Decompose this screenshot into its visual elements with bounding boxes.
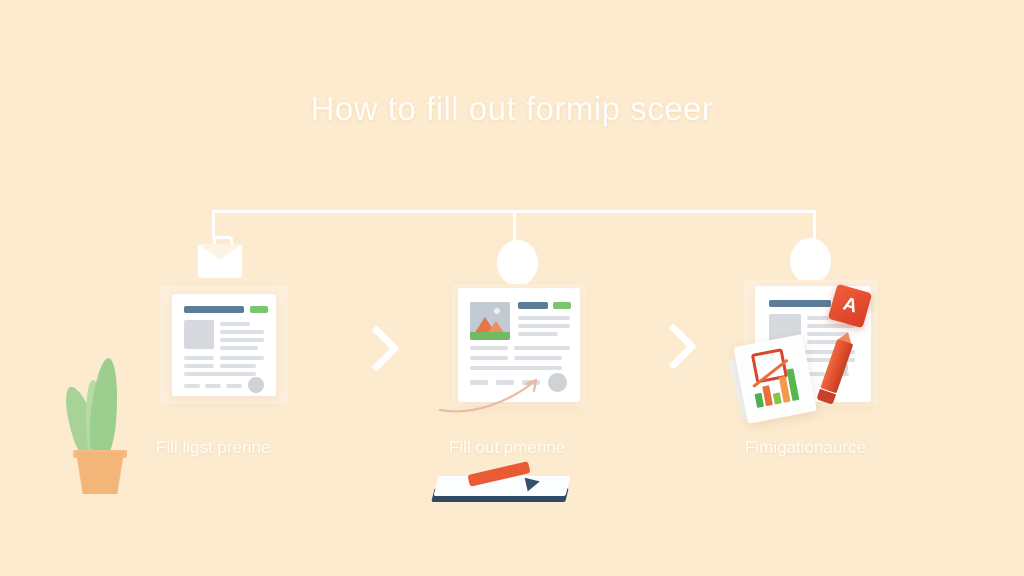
connector-stem-2 [513, 210, 516, 244]
doc-text-line [220, 338, 264, 342]
doc-avatar-circle [248, 377, 264, 393]
circle-node-icon-3 [790, 238, 831, 284]
doc-text-line [184, 364, 214, 368]
chevron-right-icon-2 [650, 323, 697, 370]
envelope-fold [198, 244, 242, 260]
potted-plant-illustration [58, 340, 142, 490]
slide-canvas: How to fill out formip sceer [0, 0, 1024, 576]
page-title: How to fill out formip sceer [0, 90, 1024, 128]
bar-chart-sheet[interactable] [733, 334, 817, 424]
doc-text-line [514, 346, 570, 350]
doc-header-bar [518, 302, 548, 309]
doc-photo-thumbnail [470, 302, 510, 340]
circle-node-icon-2 [497, 240, 538, 286]
chart-bar [773, 392, 782, 404]
doc-accent-bar [553, 302, 571, 309]
plant-leaf [86, 357, 121, 464]
doc-text-line [518, 316, 570, 320]
doc-text-line [220, 346, 258, 350]
doc-image-block [184, 320, 214, 349]
doc-footer-line [184, 384, 200, 388]
notebook-pencil-illustration [430, 466, 570, 512]
doc-header-bar [769, 300, 831, 307]
doc-text-line [470, 346, 508, 350]
thumbnail-sun [494, 308, 500, 314]
doc-text-line [220, 356, 264, 360]
briefcase-envelope-icon [198, 236, 242, 278]
doc-text-line [220, 322, 250, 326]
connector-stem-3 [813, 210, 816, 240]
doc-text-line [518, 332, 558, 336]
doc-text-line [220, 364, 256, 368]
doc-footer-line [205, 384, 221, 388]
chevron-right-icon-1 [353, 325, 400, 372]
doc-footer-line [226, 384, 242, 388]
step-1-document-card[interactable] [172, 294, 276, 396]
doc-header-bar [184, 306, 244, 313]
connector-stem-1 [212, 210, 215, 238]
step-2-label: Fill out pmerine [449, 438, 565, 458]
doc-text-line [220, 330, 264, 334]
step-3-label: Fimigationaurce [745, 438, 866, 458]
chart-bar [762, 385, 773, 406]
step-1-label: Fill ligst prerine [156, 438, 270, 458]
doc-accent-bar [250, 306, 268, 313]
doc-text-line [470, 356, 508, 360]
doc-text-line [807, 324, 855, 328]
plant-pot [76, 452, 124, 494]
doc-text-line [518, 324, 570, 328]
chart-bar [755, 393, 765, 408]
doc-text-line [184, 356, 214, 360]
doc-text-line [184, 372, 256, 376]
curved-pointer-arrow [438, 372, 558, 416]
doc-text-line [514, 356, 562, 360]
doc-text-line [470, 366, 562, 370]
thumbnail-grass [470, 332, 510, 340]
